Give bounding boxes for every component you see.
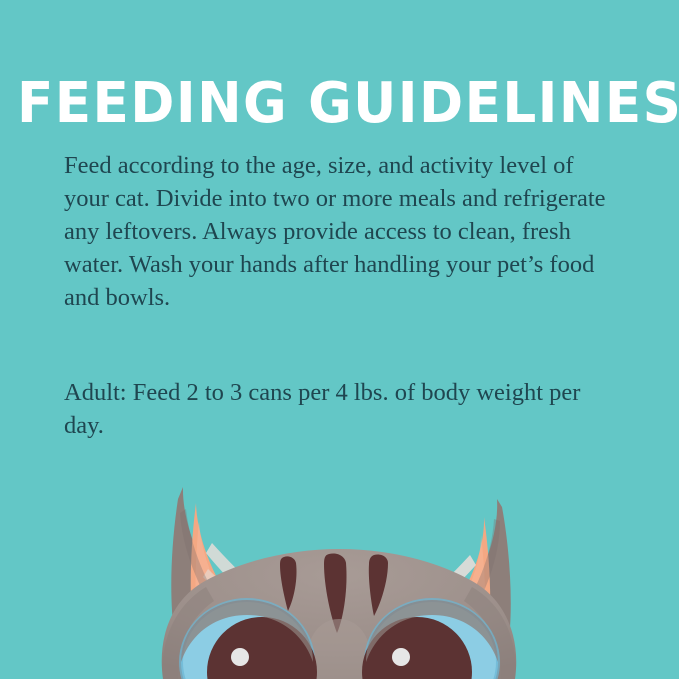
cat-illustration xyxy=(0,469,679,679)
feeding-instructions: Feed according to the age, size, and act… xyxy=(64,149,612,442)
page-title: FEEDING GUIDELINES xyxy=(17,76,662,132)
product-label-panel: FEEDING GUIDELINES Feed according to the… xyxy=(0,0,679,679)
right-eye-highlight xyxy=(392,648,410,666)
instructions-paragraph-adult: Adult: Feed 2 to 3 cans per 4 lbs. of bo… xyxy=(64,376,612,442)
instructions-paragraph-general: Feed according to the age, size, and act… xyxy=(64,149,612,314)
left-eye-highlight xyxy=(231,648,249,666)
